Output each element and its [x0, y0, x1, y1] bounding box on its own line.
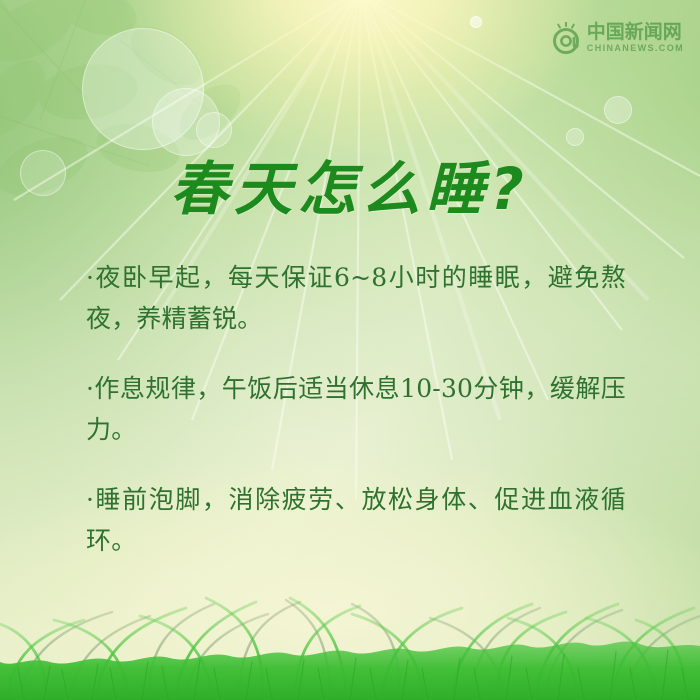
bokeh-circle — [604, 96, 632, 124]
logo-text: 中国新闻网 CHINANEWS.COM — [587, 23, 684, 53]
list-item: ·夜卧早起，每天保证6~8小时的睡眠，避免熬夜，养精蓄锐。 — [86, 258, 626, 339]
tips-list: ·夜卧早起，每天保证6~8小时的睡眠，避免熬夜，养精蓄锐。 ·作息规律，午饭后适… — [86, 258, 626, 561]
logo-english-domain: CHINANEWS.COM — [587, 44, 684, 53]
at-sign-icon — [550, 22, 582, 54]
grass-band — [0, 550, 700, 700]
chinanews-logo: 中国新闻网 CHINANEWS.COM — [550, 22, 684, 54]
list-item: ·睡前泡脚，消除疲劳、放松身体、促进血液循环。 — [86, 480, 626, 561]
bokeh-circle — [470, 16, 482, 28]
list-item: ·作息规律，午饭后适当休息10-30分钟，缓解压力。 — [86, 369, 626, 450]
infographic-card: 中国新闻网 CHINANEWS.COM 春天怎么睡? ·夜卧早起，每天保证6~8… — [0, 0, 700, 700]
page-title: 春天怎么睡? — [0, 142, 700, 226]
logo-chinese-name: 中国新闻网 — [587, 23, 684, 42]
